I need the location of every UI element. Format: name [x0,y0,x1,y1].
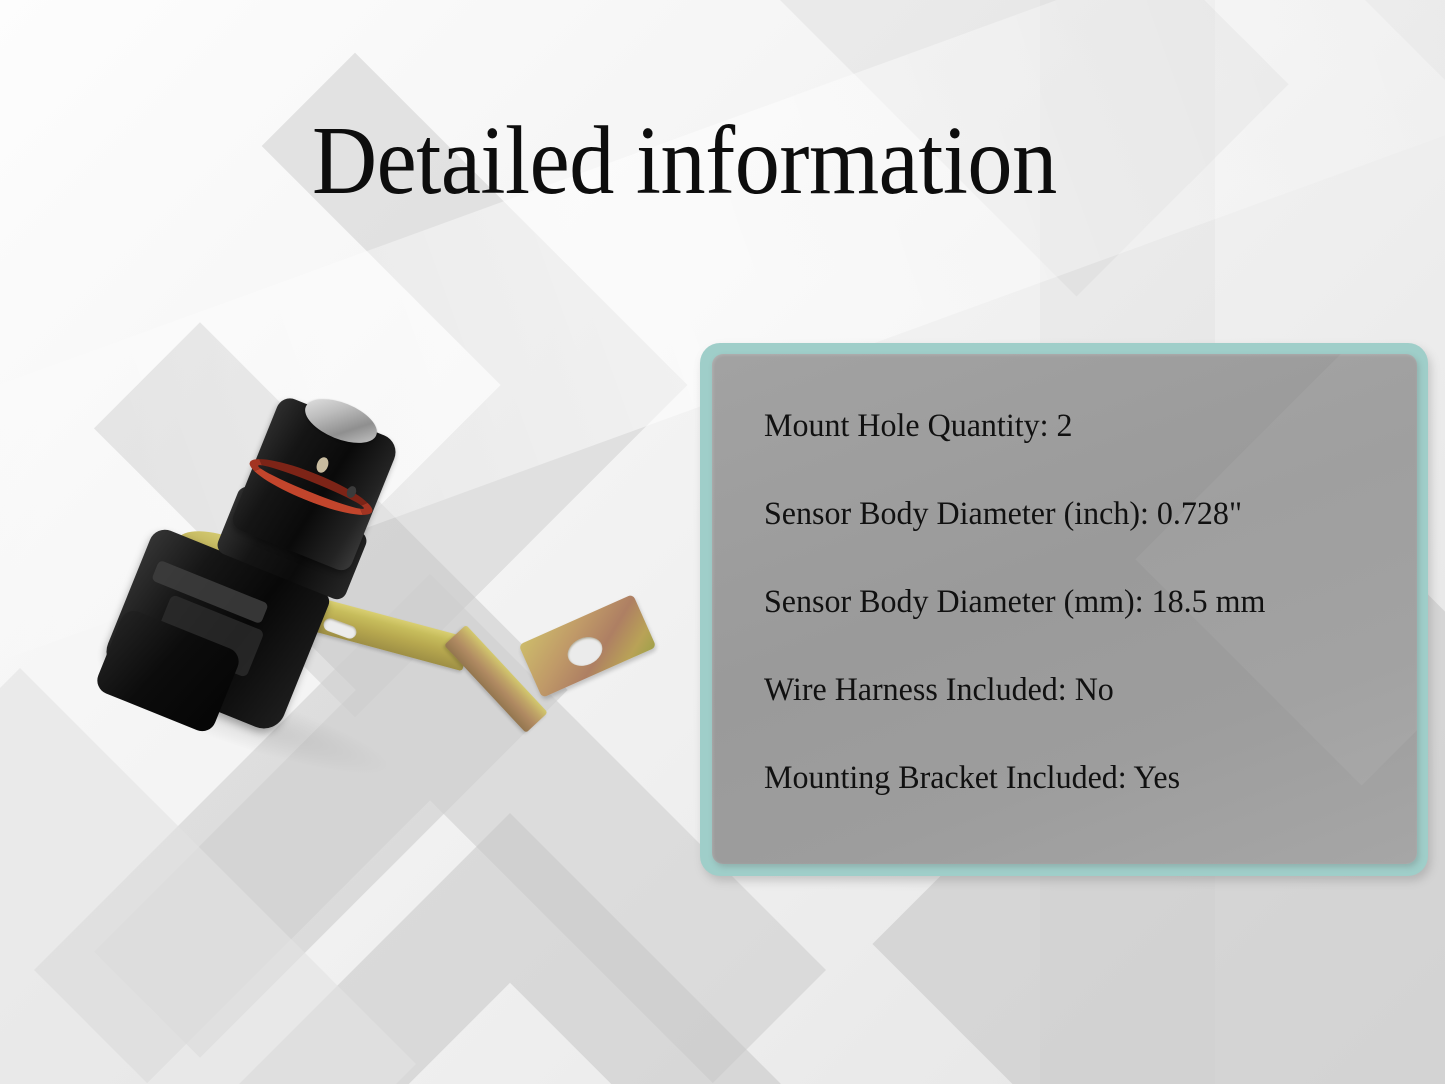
spec-item-mount-hole-quantity: Mount Hole Quantity: 2 [764,410,1397,443]
spec-panel: Mount Hole Quantity: 2 Sensor Body Diame… [700,343,1428,876]
spec-item-sensor-body-diameter-inch: Sensor Body Diameter (inch): 0.728" [764,498,1397,531]
page-title: Detailed information [312,112,1057,209]
spec-item-wire-harness-included: Wire Harness Included: No [764,674,1397,707]
spec-item-mounting-bracket-included: Mounting Bracket Included: Yes [764,762,1397,795]
slide-canvas: Detailed information Mount Hole Quantity… [0,0,1445,1084]
spec-panel-inner: Mount Hole Quantity: 2 Sensor Body Diame… [712,354,1417,864]
spec-item-sensor-body-diameter-mm: Sensor Body Diameter (mm): 18.5 mm [764,586,1397,619]
spec-list: Mount Hole Quantity: 2 Sensor Body Diame… [764,410,1417,795]
product-image [55,395,675,775]
